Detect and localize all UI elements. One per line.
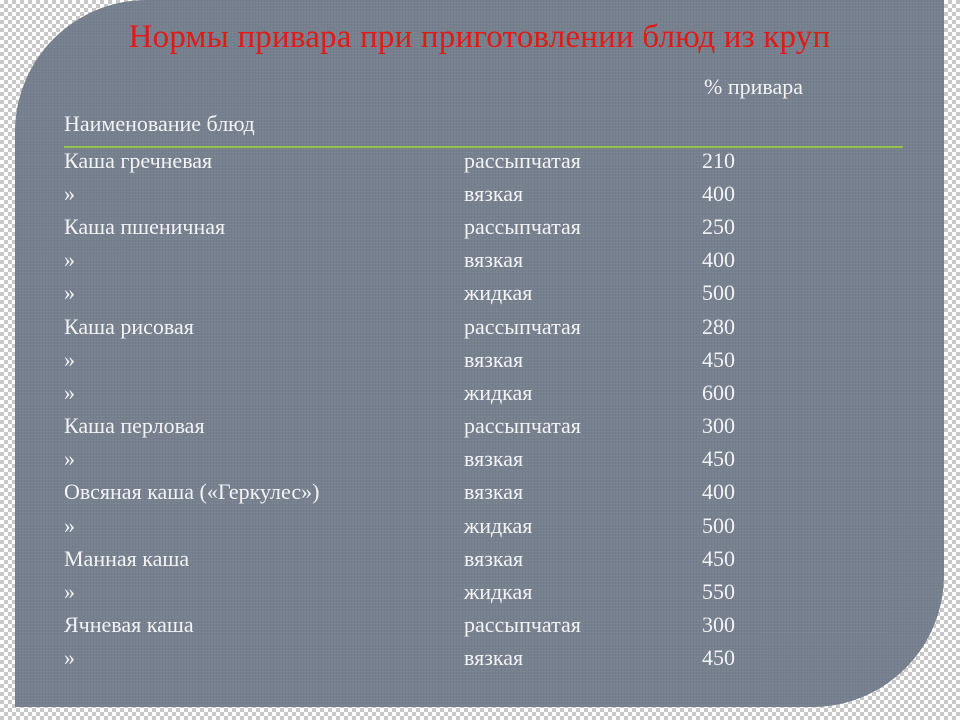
cell-percent: 500 <box>702 509 904 542</box>
table-row: Каша пшеничнаярассыпчатая250 <box>64 210 904 243</box>
header-spacer-name <box>64 70 464 104</box>
cell-consistency: жидкая <box>464 277 702 310</box>
header-spacer-percent <box>702 104 904 144</box>
cell-consistency: рассыпчатая <box>464 144 702 177</box>
table-row: Каша гречневаярассыпчатая210 <box>64 144 904 177</box>
cell-percent: 400 <box>702 244 904 277</box>
table-row: »жидкая500 <box>64 509 904 542</box>
cell-dish-name: Ячневая каша <box>64 609 464 642</box>
cell-dish-name: Манная каша <box>64 542 464 575</box>
cell-dish-name: » <box>64 509 464 542</box>
column-header-percent: % привара <box>702 70 904 104</box>
cell-dish-name: » <box>64 244 464 277</box>
cell-consistency: вязкая <box>464 642 702 675</box>
table-row: Овсяная каша («Геркулес»)вязкая400 <box>64 476 904 509</box>
cell-percent: 210 <box>702 144 904 177</box>
cell-consistency: вязкая <box>464 443 702 476</box>
table-row: Ячневая кашарассыпчатая300 <box>64 609 904 642</box>
cell-consistency: рассыпчатая <box>464 410 702 443</box>
cell-percent: 400 <box>702 177 904 210</box>
cell-percent: 450 <box>702 542 904 575</box>
table-row: Каша перловаярассыпчатая300 <box>64 410 904 443</box>
slide-panel: Нормы привара при приготовлении блюд из … <box>15 0 944 707</box>
cell-percent: 300 <box>702 410 904 443</box>
cell-dish-name: » <box>64 177 464 210</box>
column-header-name: Наименование блюд <box>64 104 464 144</box>
cell-dish-name: » <box>64 575 464 608</box>
cell-dish-name: » <box>64 443 464 476</box>
cell-dish-name: » <box>64 343 464 376</box>
cell-consistency: вязкая <box>464 542 702 575</box>
header-spacer-kind <box>464 70 702 104</box>
cell-dish-name: Каша перловая <box>64 410 464 443</box>
cell-consistency: вязкая <box>464 244 702 277</box>
table-header-row-percent: % привара <box>64 70 904 104</box>
cell-dish-name: » <box>64 376 464 409</box>
norms-table: % привара Наименование блюд Каша гречнев… <box>64 70 904 675</box>
table-row: Манная кашавязкая450 <box>64 542 904 575</box>
cell-consistency: жидкая <box>464 575 702 608</box>
table-body: Каша гречневаярассыпчатая210»вязкая400Ка… <box>64 144 904 675</box>
cell-consistency: вязкая <box>464 476 702 509</box>
page-title: Нормы привара при приготовлении блюд из … <box>15 17 944 57</box>
norms-table-container: % привара Наименование блюд Каша гречнев… <box>64 70 904 675</box>
table-row: »вязкая450 <box>64 343 904 376</box>
cell-dish-name: » <box>64 277 464 310</box>
cell-consistency: жидкая <box>464 376 702 409</box>
cell-percent: 300 <box>702 609 904 642</box>
table-row: »вязкая450 <box>64 443 904 476</box>
cell-dish-name: » <box>64 642 464 675</box>
cell-dish-name: Каша рисовая <box>64 310 464 343</box>
column-header-kind <box>464 104 702 144</box>
table-row: Каша рисоваярассыпчатая280 <box>64 310 904 343</box>
table-head: % привара Наименование блюд <box>64 70 904 144</box>
cell-consistency: рассыпчатая <box>464 310 702 343</box>
cell-percent: 250 <box>702 210 904 243</box>
table-row: »вязкая400 <box>64 244 904 277</box>
cell-percent: 450 <box>702 443 904 476</box>
cell-dish-name: Каша гречневая <box>64 144 464 177</box>
cell-consistency: вязкая <box>464 177 702 210</box>
cell-percent: 550 <box>702 575 904 608</box>
cell-consistency: рассыпчатая <box>464 609 702 642</box>
cell-percent: 600 <box>702 376 904 409</box>
cell-consistency: рассыпчатая <box>464 210 702 243</box>
table-header-row-name: Наименование блюд <box>64 104 904 144</box>
cell-percent: 450 <box>702 642 904 675</box>
table-row: »вязкая400 <box>64 177 904 210</box>
cell-consistency: жидкая <box>464 509 702 542</box>
cell-percent: 400 <box>702 476 904 509</box>
cell-percent: 500 <box>702 277 904 310</box>
table-row: »жидкая500 <box>64 277 904 310</box>
table-row: »вязкая450 <box>64 642 904 675</box>
cell-percent: 450 <box>702 343 904 376</box>
cell-dish-name: Каша пшеничная <box>64 210 464 243</box>
table-row: »жидкая600 <box>64 376 904 409</box>
cell-consistency: вязкая <box>464 343 702 376</box>
cell-percent: 280 <box>702 310 904 343</box>
table-row: »жидкая550 <box>64 575 904 608</box>
cell-dish-name: Овсяная каша («Геркулес») <box>64 476 464 509</box>
